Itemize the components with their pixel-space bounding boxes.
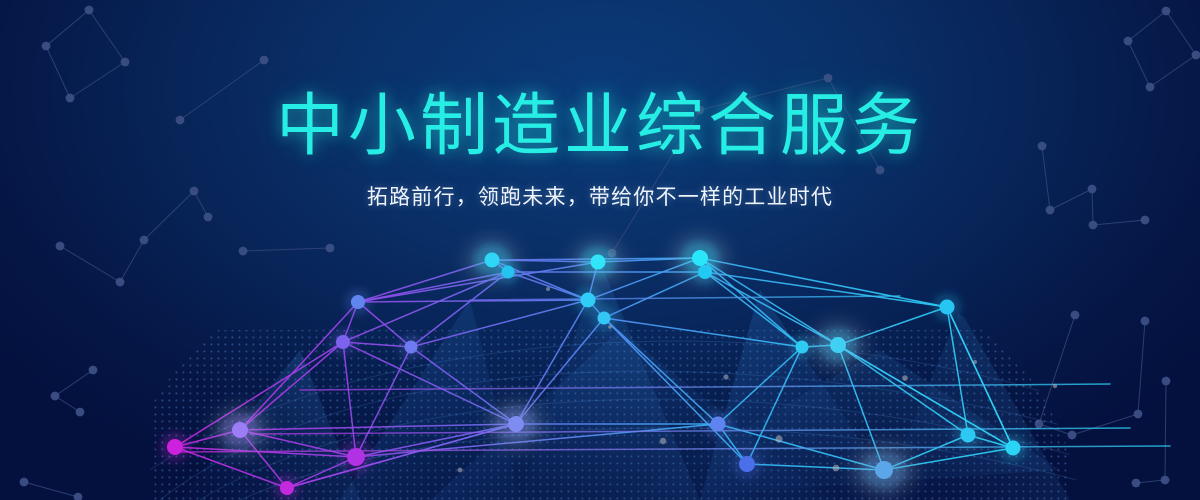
banner-text-block: 中小制造业综合服务 拓路前行，领跑未来，带给你不一样的工业时代 [0,92,1200,211]
dome-node [232,422,248,438]
dome-node [875,461,893,479]
dome-node [280,481,294,495]
dome-node [698,265,712,279]
dome-node [405,341,418,354]
dome-node [167,439,183,455]
dome-node [336,335,350,349]
dome-node [1006,441,1021,456]
dome-node [796,341,809,354]
page-subtitle: 拓路前行，领跑未来，带给你不一样的工业时代 [0,181,1200,211]
dome-node [830,337,846,353]
dome-node [940,300,955,315]
dome-node [591,255,606,270]
dome-node [351,295,365,309]
dome-node [692,250,708,266]
dome-node [961,428,976,443]
dome-node [711,417,726,432]
dome-node [508,416,524,432]
dome-node [485,253,500,268]
dome-node [347,448,365,466]
hero-banner: 中小制造业综合服务 拓路前行，领跑未来，带给你不一样的工业时代 [0,0,1200,500]
dome-node [502,266,515,279]
page-title: 中小制造业综合服务 [0,92,1200,163]
dome-wireframe [0,0,1200,500]
dome-node [581,293,596,308]
dome-node [739,456,755,472]
dome-node [598,312,611,325]
